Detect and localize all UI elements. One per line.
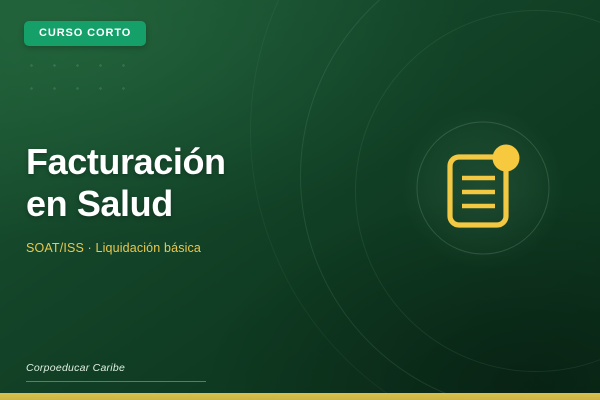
slide-canvas: CURSO CORTO Facturación en Salud SOAT/IS… (0, 0, 600, 400)
page-subtitle: SOAT/ISS · Liquidación básica (26, 241, 356, 255)
bottom-accent-bar (0, 393, 600, 400)
icon-cluster (400, 105, 565, 270)
footer-divider (26, 381, 206, 382)
page-title-line-2: en Salud (26, 183, 173, 224)
title-block: Facturación en Salud SOAT/ISS · Liquidac… (26, 141, 356, 255)
footer: Corpoeducar Caribe (26, 362, 211, 382)
page-title-line-1: Facturación (26, 141, 226, 182)
page-title: Facturación en Salud (26, 141, 356, 225)
document-invoice-icon (428, 133, 538, 243)
course-type-badge: CURSO CORTO (24, 21, 146, 46)
footer-organization: Corpoeducar Caribe (26, 362, 211, 374)
notification-dot (492, 144, 519, 171)
